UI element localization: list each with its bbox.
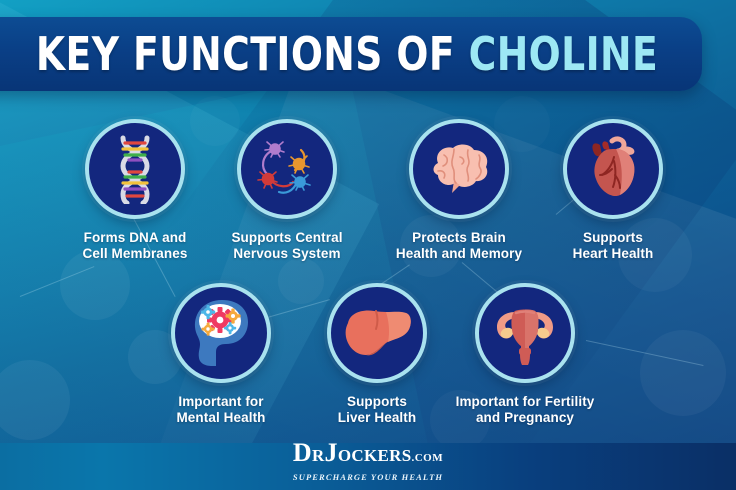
icon-circle (237, 119, 337, 219)
item-label-line1: Supports (583, 230, 643, 245)
item-label: Protects Brain Health and Memory (384, 230, 534, 262)
uterus-icon (489, 300, 561, 366)
item-label-line2: Health and Memory (396, 246, 522, 261)
item-label: Important for Fertility and Pregnancy (450, 394, 600, 426)
brain-icon (424, 141, 494, 197)
bokeh-circle (640, 330, 726, 416)
dna-helix-icon (103, 134, 167, 204)
item-label-line1: Important for Fertility (456, 394, 595, 409)
brand-logo-text: DRJOCKERS.COM (0, 440, 736, 471)
title-banner: KEY FUNCTIONS OF CHOLINE (0, 17, 702, 91)
item-liver[interactable]: Supports Liver Health (302, 283, 452, 426)
item-label-line2: Cell Membranes (83, 246, 188, 261)
item-label-line1: Important for (178, 394, 263, 409)
head-gears-icon (186, 296, 256, 370)
icon-circle (327, 283, 427, 383)
logo-dotcom: .COM (411, 452, 443, 464)
item-heart[interactable]: Supports Heart Health (538, 119, 688, 262)
item-nervous-system[interactable]: Supports Central Nervous System (212, 119, 362, 262)
connector-line (586, 340, 704, 366)
item-fertility[interactable]: Important for Fertility and Pregnancy (450, 283, 600, 426)
icon-circle (85, 119, 185, 219)
page-title: KEY FUNCTIONS OF CHOLINE (36, 24, 636, 84)
item-label-line1: Protects Brain (412, 230, 506, 245)
item-mental-health[interactable]: Important for Mental Health (146, 283, 296, 426)
item-dna[interactable]: Forms DNA and Cell Membranes (60, 119, 210, 262)
item-label-line2: Heart Health (573, 246, 654, 261)
infographic-canvas: KEY FUNCTIONS OF CHOLINE (0, 0, 736, 490)
logo-ockers: OCKERS (338, 446, 412, 465)
icon-circle (475, 283, 575, 383)
item-label: Supports Liver Health (302, 394, 452, 426)
icon-circle (409, 119, 509, 219)
title-accent-text: CHOLINE (469, 27, 659, 81)
logo-d: D (293, 438, 312, 467)
connector-line (20, 266, 95, 297)
item-label-line1: Supports (347, 394, 407, 409)
item-label: Forms DNA and Cell Membranes (60, 230, 210, 262)
liver-icon (340, 305, 414, 361)
neurons-icon (251, 136, 323, 202)
title-main-text: KEY FUNCTIONS OF (36, 27, 469, 81)
brand-tagline: SUPERCHARGE YOUR HEALTH (0, 472, 736, 483)
item-label-line2: Liver Health (338, 410, 416, 425)
logo-j: J (325, 438, 338, 467)
item-label: Important for Mental Health (146, 394, 296, 426)
item-label: Supports Heart Health (538, 230, 688, 262)
heart-organ-icon (582, 135, 644, 203)
item-label: Supports Central Nervous System (212, 230, 362, 262)
item-label-line1: Supports Central (231, 230, 342, 245)
logo-r: R (312, 446, 325, 465)
brand-logo[interactable]: DRJOCKERS.COM SUPERCHARGE YOUR HEALTH (0, 440, 736, 483)
icon-circle (171, 283, 271, 383)
item-label-line2: Mental Health (176, 410, 265, 425)
icon-circle (563, 119, 663, 219)
item-brain[interactable]: Protects Brain Health and Memory (384, 119, 534, 262)
item-label-line1: Forms DNA and (84, 230, 187, 245)
item-label-line2: and Pregnancy (476, 410, 574, 425)
item-label-line2: Nervous System (233, 246, 340, 261)
bokeh-circle (0, 360, 70, 440)
